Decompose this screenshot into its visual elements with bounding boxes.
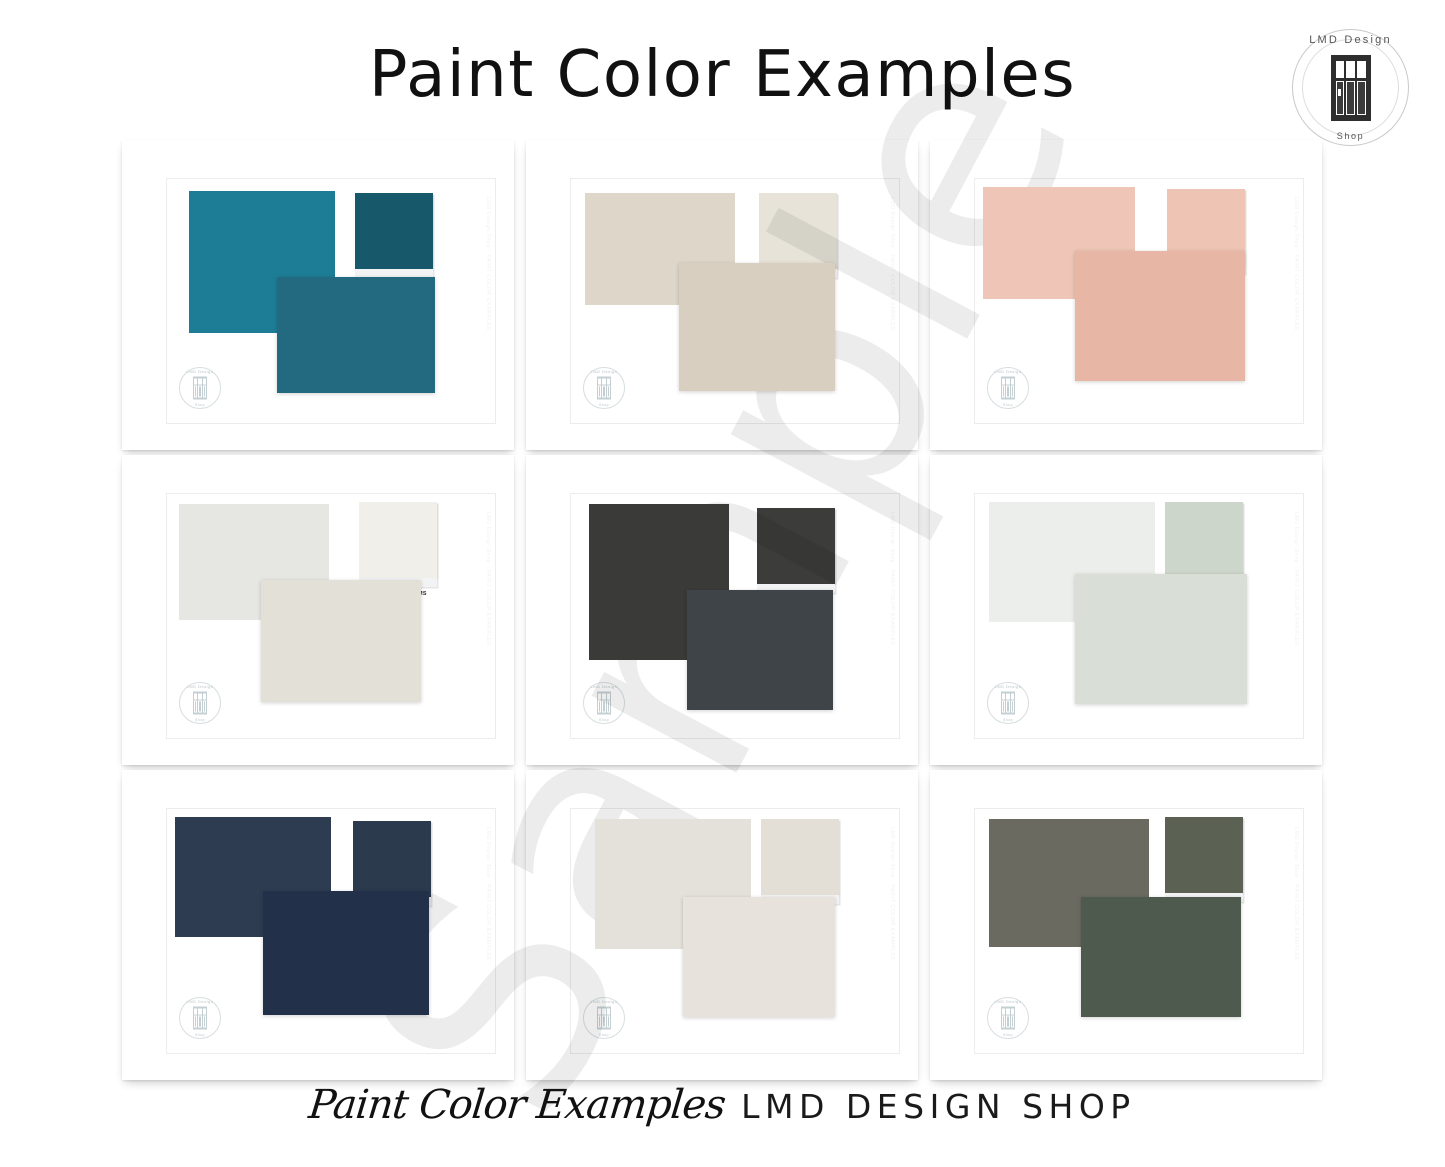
card-logo-top-label: LMD Design <box>179 369 221 374</box>
card-logo-bottom-label: Shop <box>987 403 1029 407</box>
card-brand-logo: LMD DesignShop <box>179 682 221 724</box>
card-logo-top-label: LMD Design <box>583 999 625 1004</box>
paint-card-inner-frame: LMD Design Shop · PAINT COLOR EXAMPLESSh… <box>974 808 1304 1054</box>
card-side-watermark-text: LMD Design Shop · PAINT COLOR EXAMPLES <box>1293 512 1299 646</box>
page-title: Paint Color Examples <box>0 38 1445 112</box>
paint-swatch-chip <box>1165 817 1243 893</box>
paint-swatch-chip <box>359 502 437 578</box>
paint-card[interactable]: LMD Design Shop · PAINT COLOR EXAMPLESSh… <box>122 770 514 1080</box>
card-brand-logo: LMD DesignShop <box>583 997 625 1039</box>
paint-swatch-chip <box>353 821 431 897</box>
paint-swatch-chip <box>759 193 837 269</box>
card-side-watermark-text: LMD Design Shop · PAINT COLOR EXAMPLES <box>1293 197 1299 331</box>
card-side-watermark-text: LMD Design Shop · PAINT COLOR EXAMPLES <box>485 827 491 961</box>
card-brand-logo: LMD DesignShop <box>987 367 1029 409</box>
navy-living-room-photo[interactable] <box>263 891 429 1015</box>
neutral-entryway-photo[interactable] <box>679 263 835 391</box>
paint-card-inner-frame: LMD Design Shop · PAINT COLOR EXAMPLESSh… <box>166 493 496 739</box>
door-icon <box>597 1007 611 1030</box>
footer-brand-text: LMD DESIGN SHOP <box>741 1087 1136 1126</box>
card-logo-bottom-label: Shop <box>179 718 221 722</box>
paint-swatch-chip <box>761 819 839 895</box>
door-icon <box>1331 55 1371 121</box>
card-brand-logo: LMD DesignShop <box>987 682 1029 724</box>
paint-card-inner-frame: LMD Design Shop · PAINT COLOR EXAMPLESSh… <box>974 178 1304 424</box>
paint-card[interactable]: LMD Design Shop · PAINT COLOR EXAMPLESSh… <box>930 770 1322 1080</box>
door-icon <box>1001 377 1015 400</box>
card-logo-bottom-label: Shop <box>583 403 625 407</box>
paint-swatch-chip <box>757 508 835 584</box>
card-logo-top-label: LMD Design <box>987 369 1029 374</box>
card-side-watermark-text: LMD Design Shop · PAINT COLOR EXAMPLES <box>889 827 895 961</box>
paint-card-inner-frame: LMD Design Shop · PAINT COLOR EXAMPLESSh… <box>166 178 496 424</box>
card-logo-bottom-label: Shop <box>179 1033 221 1037</box>
card-brand-logo: LMD DesignShop <box>179 997 221 1039</box>
paint-card[interactable]: LMD Design Shop · PAINT COLOR EXAMPLESSh… <box>526 140 918 450</box>
badge-top-label: LMD Design <box>1288 34 1413 46</box>
sage-built-in-fireplace-photo[interactable] <box>1075 574 1247 704</box>
card-logo-top-label: LMD Design <box>179 999 221 1004</box>
card-logo-bottom-label: Shop <box>583 1033 625 1037</box>
card-brand-logo: LMD DesignShop <box>583 682 625 724</box>
card-logo-bottom-label: Shop <box>179 403 221 407</box>
paint-card[interactable]: LMD Design Shop · PAINT COLOR EXAMPLESSh… <box>122 140 514 450</box>
card-logo-top-label: LMD Design <box>179 684 221 689</box>
dark-kitchen-cabinets-photo[interactable] <box>687 590 833 710</box>
paint-card[interactable]: LMD Design Shop · PAINT COLOR EXAMPLESSh… <box>930 140 1322 450</box>
door-icon <box>1001 1007 1015 1030</box>
paint-card-inner-frame: LMD Design Shop · PAINT COLOR EXAMPLESSh… <box>570 808 900 1054</box>
paint-swatch-chip <box>355 193 433 269</box>
light-sitting-room-photo[interactable] <box>683 897 835 1017</box>
card-logo-bottom-label: Shop <box>987 718 1029 722</box>
footer: Paint Color Examples LMD DESIGN SHOP <box>0 1082 1445 1128</box>
card-side-watermark-text: LMD Design Shop · PAINT COLOR EXAMPLES <box>485 512 491 646</box>
door-icon <box>597 692 611 715</box>
door-icon <box>193 1007 207 1030</box>
door-icon <box>1001 692 1015 715</box>
brand-logo-badge: LMD Design Shop <box>1288 25 1413 150</box>
card-brand-logo: LMD DesignShop <box>583 367 625 409</box>
pink-cabinet-nook-photo[interactable] <box>1075 251 1245 381</box>
footer-script-text: Paint Color Examples <box>307 1082 728 1128</box>
door-icon <box>193 692 207 715</box>
paint-card[interactable]: LMD Design Shop · PAINT COLOR EXAMPLESSh… <box>526 455 918 765</box>
card-side-watermark-text: LMD Design Shop · PAINT COLOR EXAMPLES <box>1293 827 1299 961</box>
paint-card-grid: LMD Design Shop · PAINT COLOR EXAMPLESSh… <box>122 140 1322 1080</box>
paint-card-inner-frame: LMD Design Shop · PAINT COLOR EXAMPLESSh… <box>570 493 900 739</box>
card-logo-top-label: LMD Design <box>987 999 1029 1004</box>
card-side-watermark-text: LMD Design Shop · PAINT COLOR EXAMPLES <box>889 512 895 646</box>
door-icon <box>193 377 207 400</box>
paint-card[interactable]: LMD Design Shop · PAINT COLOR EXAMPLESSh… <box>930 455 1322 765</box>
door-icon <box>597 377 611 400</box>
card-brand-logo: LMD DesignShop <box>179 367 221 409</box>
card-logo-bottom-label: Shop <box>987 1033 1029 1037</box>
card-logo-bottom-label: Shop <box>583 718 625 722</box>
card-side-watermark-text: LMD Design Shop · PAINT COLOR EXAMPLES <box>889 197 895 331</box>
card-side-watermark-text: LMD Design Shop · PAINT COLOR EXAMPLES <box>485 197 491 331</box>
paint-card-inner-frame: LMD Design Shop · PAINT COLOR EXAMPLESSh… <box>570 178 900 424</box>
paint-card-inner-frame: LMD Design Shop · PAINT COLOR EXAMPLESSh… <box>974 493 1304 739</box>
card-logo-top-label: LMD Design <box>583 369 625 374</box>
teal-bedroom-wide-photo[interactable] <box>277 277 435 393</box>
card-brand-logo: LMD DesignShop <box>987 997 1029 1039</box>
paint-card[interactable]: LMD Design Shop · PAINT COLOR EXAMPLESSh… <box>526 770 918 1080</box>
white-bedroom-photo[interactable] <box>261 580 421 702</box>
card-logo-top-label: LMD Design <box>583 684 625 689</box>
green-kitchen-cabinets-photo[interactable] <box>1081 897 1241 1017</box>
paint-card-inner-frame: LMD Design Shop · PAINT COLOR EXAMPLESSh… <box>166 808 496 1054</box>
paint-swatch-chip <box>1165 502 1243 578</box>
card-logo-top-label: LMD Design <box>987 684 1029 689</box>
paint-card[interactable]: LMD Design Shop · PAINT COLOR EXAMPLESSh… <box>122 455 514 765</box>
